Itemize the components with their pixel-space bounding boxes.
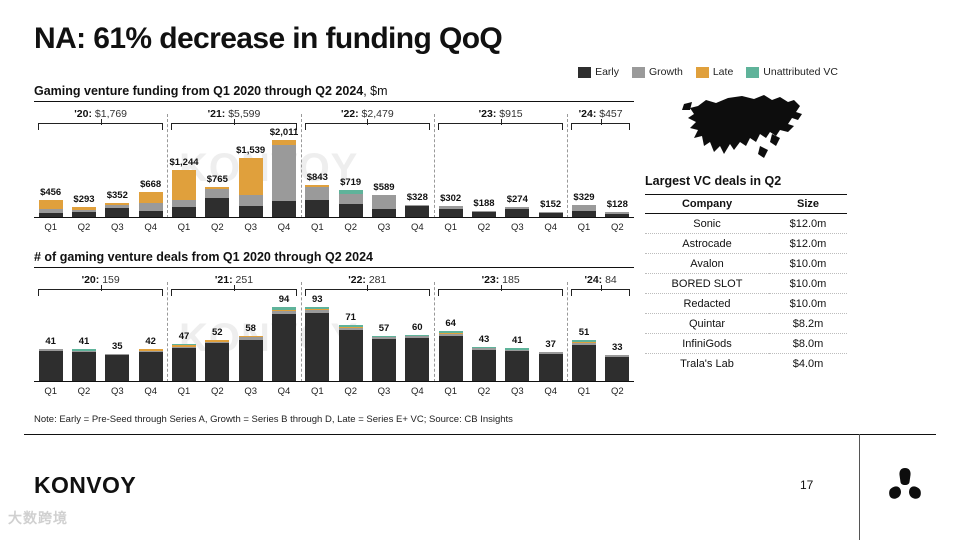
- bar[interactable]: 37: [539, 352, 563, 382]
- x-axis-tick-label: Q2: [344, 222, 357, 233]
- bar-group[interactable]: 64Q1: [434, 331, 467, 382]
- footer-rule: [24, 434, 936, 435]
- x-axis-tick-label: Q1: [44, 386, 57, 397]
- bar-segment-early: [272, 314, 296, 382]
- table-row: InfiniGods$8.0m: [645, 334, 847, 354]
- bar-group[interactable]: $668Q4: [134, 192, 167, 218]
- year-label: '23:: [479, 108, 500, 120]
- year-total: 281: [369, 274, 387, 286]
- bar[interactable]: $765: [205, 187, 229, 218]
- bar-group[interactable]: $456Q1: [34, 200, 67, 218]
- bar-group[interactable]: 51Q1: [567, 340, 600, 382]
- funding-chart-title: Gaming venture funding from Q1 2020 thro…: [34, 84, 363, 98]
- bar-value-label: 94: [279, 294, 290, 305]
- bar-group[interactable]: $719Q2: [334, 190, 367, 218]
- legend-label: Late: [713, 66, 733, 78]
- year-total: $457: [599, 108, 622, 120]
- bar[interactable]: 47: [172, 344, 196, 382]
- bar-segment-early: [439, 336, 463, 382]
- footnote: Note: Early = Pre-Seed through Series A,…: [34, 414, 513, 425]
- bar[interactable]: 41: [505, 348, 529, 382]
- year-group-header: '23: 185: [434, 274, 567, 286]
- year-label: '20:: [74, 108, 95, 120]
- bar-segment-growth: [272, 145, 296, 201]
- deals-chart-plot: KONVOY 41Q141Q235Q342Q447Q152Q258Q394Q49…: [34, 308, 634, 382]
- x-axis-tick-label: Q2: [611, 222, 624, 233]
- bar-segment-late: [239, 158, 263, 194]
- bar-segment-growth: [372, 195, 396, 209]
- x-axis-tick-label: Q1: [311, 222, 324, 233]
- bar[interactable]: $719: [339, 190, 363, 218]
- x-axis-tick-label: Q1: [311, 386, 324, 397]
- bar-segment-growth: [305, 187, 329, 200]
- bar-segment-early: [572, 345, 596, 382]
- funding-chart-plot: KONVOY $456Q1$293Q2$352Q3$668Q4$1,244Q1$…: [34, 140, 634, 218]
- bar[interactable]: 94: [272, 307, 296, 382]
- year-group-header: '22: 281: [301, 274, 434, 286]
- bar[interactable]: 33: [605, 355, 629, 382]
- bar-value-label: 42: [145, 336, 156, 347]
- bar[interactable]: $589: [372, 195, 396, 218]
- cell-size: $12.0m: [769, 214, 847, 234]
- bar-segment-early: [205, 343, 229, 382]
- bar[interactable]: 52: [205, 340, 229, 382]
- bar-group[interactable]: 71Q2: [334, 325, 367, 382]
- footer-vertical-rule: [859, 434, 860, 540]
- page-title: NA: 61% decrease in funding QoQ: [34, 22, 502, 56]
- x-axis-tick-label: Q1: [578, 222, 591, 233]
- bar-segment-growth: [339, 194, 363, 204]
- year-group-header: '23: $915: [434, 108, 567, 120]
- bar-value-label: $1,244: [169, 157, 198, 168]
- bar-value-label: 47: [179, 331, 190, 342]
- deals-year-header-row: '20: 159'21: 251'22: 281'23: 185'24: 84: [34, 274, 634, 286]
- cell-size: $8.2m: [769, 314, 847, 334]
- year-bracket: [571, 123, 630, 130]
- bar-value-label: 60: [412, 322, 423, 333]
- bar[interactable]: 71: [339, 325, 363, 382]
- year-group-header: '20: 159: [34, 274, 167, 286]
- bar-group[interactable]: 57Q3: [367, 336, 400, 382]
- year-bracket: [305, 289, 430, 296]
- table-row: Trala's Lab$4.0m: [645, 354, 847, 374]
- funding-year-header-row: '20: $1,769'21: $5,599'22: $2,479'23: $9…: [34, 108, 634, 120]
- year-divider: [167, 114, 168, 218]
- bar-value-label: $456: [40, 187, 61, 198]
- x-axis-tick-label: Q2: [211, 222, 224, 233]
- year-bracket: [438, 123, 563, 130]
- bar[interactable]: 60: [405, 335, 429, 382]
- bar[interactable]: $1,244: [172, 170, 196, 218]
- cell-company: InfiniGods: [645, 334, 769, 354]
- cell-company: Trala's Lab: [645, 354, 769, 374]
- bar-group[interactable]: $843Q1: [301, 185, 334, 218]
- year-total: 84: [605, 274, 617, 286]
- x-axis-tick-label: Q2: [78, 222, 91, 233]
- x-axis-tick-label: Q3: [511, 386, 524, 397]
- x-axis-tick-label: Q2: [478, 386, 491, 397]
- bar[interactable]: $1,539: [239, 158, 263, 218]
- bar-segment-early: [605, 357, 629, 382]
- year-total: 185: [502, 274, 520, 286]
- bar-segment-early: [305, 200, 329, 218]
- bar-value-label: 52: [212, 327, 223, 338]
- x-axis-tick-label: Q1: [44, 222, 57, 233]
- year-divider: [434, 114, 435, 218]
- bar[interactable]: 41: [39, 349, 63, 382]
- column-header-size: Size: [769, 195, 847, 214]
- year-label: '24:: [585, 274, 606, 286]
- bar-value-label: 37: [545, 339, 556, 350]
- bar-value-label: 43: [479, 334, 490, 345]
- bar-value-label: $589: [373, 182, 394, 193]
- year-group-header: '22: $2,479: [301, 108, 434, 120]
- bar[interactable]: 35: [105, 354, 129, 382]
- bar-value-label: $152: [540, 199, 561, 210]
- cell-company: Astrocade: [645, 234, 769, 254]
- year-bracket: [305, 123, 430, 130]
- cell-company: Quintar: [645, 314, 769, 334]
- bar-group[interactable]: 47Q1: [167, 344, 200, 382]
- bar[interactable]: 64: [439, 331, 463, 382]
- x-axis-tick-label: Q4: [144, 222, 157, 233]
- year-group-header: '24: $457: [567, 108, 634, 120]
- legend-label: Early: [595, 66, 619, 78]
- bar[interactable]: $456: [39, 200, 63, 218]
- chart-legend: EarlyGrowthLateUnattributed VC: [578, 66, 838, 78]
- funding-chart-unit: , $m: [363, 84, 387, 98]
- bar-value-label: $128: [607, 199, 628, 210]
- year-label: '20:: [82, 274, 103, 286]
- year-bracket: [571, 289, 630, 296]
- x-axis-tick-label: Q3: [111, 222, 124, 233]
- bar-group[interactable]: $1,244Q1: [167, 170, 200, 218]
- x-axis-tick-label: Q3: [244, 222, 257, 233]
- year-total: $915: [499, 108, 522, 120]
- konvoy-logo-wordmark: KONVOY: [34, 472, 136, 499]
- bar-segment-early: [372, 339, 396, 382]
- year-total: 159: [102, 274, 120, 286]
- bar-value-label: $293: [73, 194, 94, 205]
- bar-segment-early: [139, 352, 163, 382]
- table-row: Redacted$10.0m: [645, 294, 847, 314]
- cell-size: $10.0m: [769, 274, 847, 294]
- bar-value-label: $719: [340, 177, 361, 188]
- legend-swatch-icon: [578, 67, 591, 78]
- bar[interactable]: 42: [139, 349, 163, 382]
- x-axis-tick-label: Q3: [511, 222, 524, 233]
- x-axis-tick-label: Q2: [211, 386, 224, 397]
- table-row: Quintar$8.2m: [645, 314, 847, 334]
- bar-value-label: $274: [507, 194, 528, 205]
- year-group-header: '21: $5,599: [167, 108, 300, 120]
- bar-group[interactable]: 52Q2: [201, 340, 234, 382]
- bar-value-label: 33: [612, 342, 623, 353]
- year-divider: [434, 282, 435, 382]
- x-axis-tick-label: Q1: [444, 222, 457, 233]
- bar-segment-early: [405, 338, 429, 382]
- year-divider: [167, 282, 168, 382]
- year-divider: [301, 282, 302, 382]
- bar[interactable]: $2,011: [272, 140, 296, 218]
- bar-group[interactable]: 43Q2: [467, 347, 500, 382]
- bar-group[interactable]: 33Q2: [601, 355, 634, 382]
- x-axis-tick-label: Q2: [478, 222, 491, 233]
- x-axis-tick-label: Q4: [278, 222, 291, 233]
- x-axis-tick-label: Q1: [178, 386, 191, 397]
- deals-x-axis: [34, 381, 634, 383]
- legend-label: Growth: [649, 66, 683, 78]
- year-bracket: [38, 289, 163, 296]
- year-label: '23:: [482, 274, 503, 286]
- legend-item-late: Late: [696, 66, 733, 78]
- year-bracket: [438, 289, 563, 296]
- slide-root: NA: 61% decrease in funding QoQ EarlyGro…: [0, 0, 960, 540]
- bar-value-label: $843: [307, 172, 328, 183]
- year-divider: [567, 282, 568, 382]
- bar-value-label: $302: [440, 193, 461, 204]
- x-axis-tick-label: Q1: [444, 386, 457, 397]
- cell-company: Sonic: [645, 214, 769, 234]
- bar-value-label: 64: [445, 318, 456, 329]
- x-axis-tick-label: Q4: [544, 386, 557, 397]
- bar-segment-early: [272, 201, 296, 218]
- legend-swatch-icon: [696, 67, 709, 78]
- bar-group[interactable]: 42Q4: [134, 349, 167, 382]
- bar[interactable]: $668: [139, 192, 163, 218]
- bar-group[interactable]: 35Q3: [101, 354, 134, 382]
- bar-value-label: $188: [473, 198, 494, 209]
- bar-segment-early: [239, 340, 263, 383]
- bar-segment-early: [472, 350, 496, 382]
- cell-company: BORED SLOT: [645, 274, 769, 294]
- bar-value-label: 71: [345, 312, 356, 323]
- bar-value-label: 51: [579, 327, 590, 338]
- bar-value-label: 41: [79, 336, 90, 347]
- bar-group[interactable]: 41Q3: [501, 348, 534, 382]
- x-axis-tick-label: Q4: [278, 386, 291, 397]
- year-divider: [301, 114, 302, 218]
- x-axis-tick-label: Q3: [244, 386, 257, 397]
- bar-group[interactable]: 37Q4: [534, 352, 567, 382]
- bar-value-label: $1,539: [236, 145, 265, 156]
- x-axis-tick-label: Q1: [178, 222, 191, 233]
- bar[interactable]: 93: [305, 307, 329, 382]
- bar-segment-early: [105, 355, 129, 382]
- x-axis-tick-label: Q1: [578, 386, 591, 397]
- table-row: Sonic$12.0m: [645, 214, 847, 234]
- x-axis-tick-label: Q2: [611, 386, 624, 397]
- x-axis-tick-label: Q3: [111, 386, 124, 397]
- cell-company: Avalon: [645, 254, 769, 274]
- bar-segment-early: [339, 330, 363, 382]
- bar-segment-early: [205, 198, 229, 218]
- bar[interactable]: $843: [305, 185, 329, 218]
- bar-group[interactable]: $1,539Q3: [234, 158, 267, 218]
- legend-swatch-icon: [632, 67, 645, 78]
- bar-value-label: 57: [379, 323, 390, 334]
- year-label: '21:: [208, 108, 229, 120]
- legend-swatch-icon: [746, 67, 759, 78]
- bar-value-label: $2,011: [270, 127, 299, 138]
- legend-item-unattributed-vc: Unattributed VC: [746, 66, 838, 78]
- funding-x-axis: [34, 217, 634, 219]
- north-america-map-icon: [676, 88, 821, 166]
- year-divider: [567, 114, 568, 218]
- bar-segment-growth: [139, 203, 163, 211]
- deals-chart-title: # of gaming venture deals from Q1 2020 t…: [34, 250, 373, 264]
- x-axis-tick-label: Q3: [378, 222, 391, 233]
- funding-chart-heading: Gaming venture funding from Q1 2020 thro…: [34, 84, 388, 98]
- column-header-company: Company: [645, 195, 769, 214]
- bar-value-label: $352: [107, 190, 128, 201]
- bar-segment-early: [305, 313, 329, 382]
- year-label: '22:: [348, 274, 369, 286]
- cell-size: $10.0m: [769, 294, 847, 314]
- bar-value-label: $328: [407, 192, 428, 203]
- table-row: BORED SLOT$10.0m: [645, 274, 847, 294]
- bar-value-label: $668: [140, 179, 161, 190]
- site-watermark: 大数跨境: [8, 508, 68, 528]
- bar-segment-growth: [239, 195, 263, 207]
- bar[interactable]: 41: [72, 349, 96, 382]
- year-label: '21:: [215, 274, 236, 286]
- year-label: '24:: [579, 108, 600, 120]
- bar-value-label: 41: [45, 336, 56, 347]
- bar-group[interactable]: 93Q1: [301, 307, 334, 382]
- bar-group[interactable]: $589Q3: [367, 195, 400, 218]
- legend-item-growth: Growth: [632, 66, 683, 78]
- bar-segment-late: [139, 192, 163, 202]
- bar-value-label: 41: [512, 335, 523, 346]
- bar-group[interactable]: 41Q1: [34, 349, 67, 382]
- bar[interactable]: 51: [572, 340, 596, 382]
- bar-group[interactable]: 41Q2: [67, 349, 100, 382]
- bar-segment-late: [39, 200, 63, 209]
- konvoy-mark-icon: [884, 466, 926, 506]
- bar-group[interactable]: 94Q4: [267, 307, 300, 382]
- cell-size: $4.0m: [769, 354, 847, 374]
- deals-chart-heading: # of gaming venture deals from Q1 2020 t…: [34, 250, 373, 264]
- bar-segment-early: [72, 352, 96, 382]
- funding-heading-rule: [34, 101, 634, 102]
- page-number: 17: [800, 478, 813, 492]
- x-axis-tick-label: Q4: [411, 222, 424, 233]
- bar-segment-early: [172, 348, 196, 382]
- bar-group[interactable]: $765Q2: [201, 187, 234, 218]
- bar-segment-early: [539, 354, 563, 382]
- deals-heading-rule: [34, 267, 634, 268]
- cell-size: $12.0m: [769, 234, 847, 254]
- bar-segment-growth: [172, 200, 196, 207]
- bar-group[interactable]: $2,011Q4: [267, 140, 300, 218]
- bar-segment-late: [172, 170, 196, 200]
- bar-value-label: $765: [207, 174, 228, 185]
- deals-panel-title: Largest VC deals in Q2: [645, 174, 781, 188]
- largest-deals-table: Company Size Sonic$12.0mAstrocade$12.0mA…: [645, 194, 847, 373]
- x-axis-tick-label: Q4: [144, 386, 157, 397]
- year-label: '22:: [341, 108, 362, 120]
- year-group-header: '21: 251: [167, 274, 300, 286]
- cell-size: $10.0m: [769, 254, 847, 274]
- cell-company: Redacted: [645, 294, 769, 314]
- legend-label: Unattributed VC: [763, 66, 838, 78]
- cell-size: $8.0m: [769, 334, 847, 354]
- x-axis-tick-label: Q2: [78, 386, 91, 397]
- table-row: Avalon$10.0m: [645, 254, 847, 274]
- x-axis-tick-label: Q3: [378, 386, 391, 397]
- x-axis-tick-label: Q4: [544, 222, 557, 233]
- year-group-header: '20: $1,769: [34, 108, 167, 120]
- year-total: 251: [236, 274, 254, 286]
- year-bracket: [38, 123, 163, 130]
- bar[interactable]: 57: [372, 336, 396, 382]
- bar-value-label: 58: [245, 323, 256, 334]
- bar-value-label: $329: [573, 192, 594, 203]
- bar-group[interactable]: 58Q3: [234, 336, 267, 382]
- bar-segment-growth: [205, 189, 229, 198]
- x-axis-tick-label: Q2: [344, 386, 357, 397]
- bar-value-label: 35: [112, 341, 123, 352]
- bar-value-label: 93: [312, 294, 323, 305]
- bar[interactable]: 43: [472, 347, 496, 382]
- year-group-header: '24: 84: [567, 274, 634, 286]
- x-axis-tick-label: Q4: [411, 386, 424, 397]
- bar-segment-early: [39, 351, 63, 382]
- table-row: Astrocade$12.0m: [645, 234, 847, 254]
- legend-item-early: Early: [578, 66, 619, 78]
- bar[interactable]: 58: [239, 336, 263, 382]
- bar-segment-early: [505, 351, 529, 382]
- bar-group[interactable]: 60Q4: [401, 335, 434, 382]
